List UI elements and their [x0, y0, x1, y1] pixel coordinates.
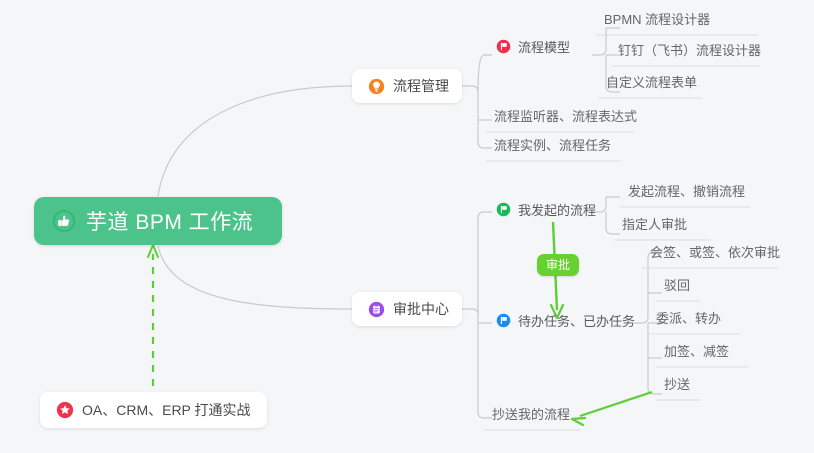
branch-label-approval-center: 审批中心 [393, 299, 449, 319]
root-node[interactable]: 芋道 BPM 工作流 [34, 197, 282, 245]
node-label-bpmn-designer: BPMN 流程设计器 [604, 12, 710, 27]
star-icon [56, 401, 74, 419]
cc-link-arrow [572, 392, 652, 425]
thumbs-up-icon [52, 209, 76, 233]
node-todo-done-tasks[interactable]: 待办任务、已办任务 [490, 313, 641, 333]
edge-ac-spine [462, 309, 492, 418]
edge-model-spine [592, 28, 606, 55]
lightbulb-icon [368, 78, 385, 95]
mindmap-canvas: 芋道 BPM 工作流 OA、CRM、ERP 打通实战 流程管理 [0, 0, 814, 453]
node-label-listener-expression: 流程监听器、流程表达式 [494, 109, 637, 124]
node-label-custom-form: 自定义流程表单 [606, 75, 697, 90]
node-my-started-flows[interactable]: 我发起的流程 [490, 202, 602, 222]
flag-icon [496, 313, 511, 328]
node-custom-form[interactable]: 自定义流程表单 [600, 75, 703, 94]
node-start-cancel-flow[interactable]: 发起流程、撤销流程 [622, 184, 751, 203]
node-label-dingding-designer: 钉钉（飞书）流程设计器 [618, 43, 761, 58]
node-bpmn-designer[interactable]: BPMN 流程设计器 [598, 12, 716, 31]
branch-label-process-management: 流程管理 [393, 76, 449, 96]
node-delegate-transfer[interactable]: 委派、转办 [650, 311, 727, 330]
root-label: 芋道 BPM 工作流 [86, 206, 253, 236]
aside-to-root-arrow [148, 245, 158, 400]
node-add-remove-sign[interactable]: 加签、减签 [658, 344, 735, 363]
node-cc[interactable]: 抄送 [658, 377, 696, 396]
node-label-my-started-flows: 我发起的流程 [518, 203, 596, 218]
node-countersign[interactable]: 会签、或签、依次审批 [644, 245, 786, 264]
branch-node-approval-center[interactable]: 审批中心 [352, 292, 462, 326]
node-label-cc-to-me: 抄送我的流程 [492, 407, 570, 422]
clipboard-icon [368, 301, 385, 318]
aside-node-label: OA、CRM、ERP 打通实战 [82, 400, 251, 420]
edge-root-to-process-management [158, 86, 352, 196]
node-label-assignee-approval: 指定人审批 [622, 217, 687, 232]
node-reject[interactable]: 驳回 [658, 278, 696, 297]
edge-pm-to-model [478, 55, 492, 92]
node-label-instance-task: 流程实例、流程任务 [494, 138, 611, 153]
node-label-start-cancel-flow: 发起流程、撤销流程 [628, 184, 745, 199]
node-label-countersign: 会签、或签、依次审批 [650, 245, 780, 260]
node-label-todo-done-tasks: 待办任务、已办任务 [518, 314, 635, 329]
edge-root-to-approval-center [158, 246, 352, 309]
edge-ac-spine-up [478, 212, 492, 315]
node-dingding-designer[interactable]: 钉钉（飞书）流程设计器 [612, 43, 767, 62]
flag-icon [496, 202, 511, 217]
node-cc-to-me[interactable]: 抄送我的流程 [486, 407, 576, 426]
aside-node-integration[interactable]: OA、CRM、ERP 打通实战 [40, 392, 267, 428]
branch-node-process-management[interactable]: 流程管理 [352, 69, 462, 103]
node-label-add-remove-sign: 加签、减签 [664, 344, 729, 359]
approval-flow-tag: 审批 [537, 254, 579, 276]
node-listener-expression[interactable]: 流程监听器、流程表达式 [488, 109, 643, 128]
node-instance-task[interactable]: 流程实例、流程任务 [488, 138, 617, 157]
node-assignee-approval[interactable]: 指定人审批 [616, 217, 693, 236]
node-label-delegate-transfer: 委派、转办 [656, 311, 721, 326]
node-process-model[interactable]: 流程模型 [490, 39, 576, 59]
node-label-reject: 驳回 [664, 278, 690, 293]
node-label-cc: 抄送 [664, 377, 690, 392]
flag-icon [496, 39, 511, 54]
node-label-process-model: 流程模型 [518, 40, 570, 55]
